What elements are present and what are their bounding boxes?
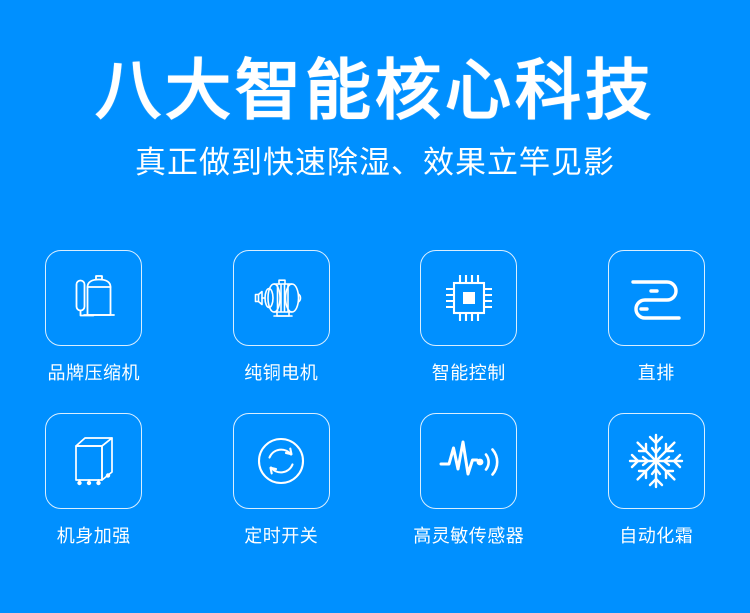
feature-item-motor[interactable]: 纯铜电机	[188, 243, 376, 406]
snowflake-icon	[626, 431, 686, 491]
feature-label: 纯铜电机	[244, 362, 318, 384]
feature-label: 高灵敏传感器	[413, 525, 524, 547]
feature-item-sensor[interactable]: 高灵敏传感器	[375, 406, 563, 569]
pulse-sensor-icon	[437, 436, 501, 486]
feature-tile	[608, 250, 705, 346]
feature-grid: 品牌压缩机	[0, 243, 750, 569]
feature-item-compressor[interactable]: 品牌压缩机	[0, 243, 188, 406]
feature-label: 品牌压缩机	[48, 362, 141, 384]
cpu-chip-icon	[440, 269, 498, 327]
promo-banner: 八大智能核心科技 真正做到快速除湿、效果立竿见影	[0, 0, 750, 613]
page-title: 八大智能核心科技	[0, 52, 750, 128]
feature-item-auto-defrost[interactable]: 自动化霜	[563, 406, 750, 569]
feature-tile	[420, 250, 517, 346]
electric-motor-icon	[250, 267, 312, 329]
drain-hose-icon	[625, 271, 687, 325]
feature-label: 定时开关	[244, 525, 318, 547]
feature-item-smart-control[interactable]: 智能控制	[375, 243, 563, 406]
feature-label: 直排	[638, 362, 675, 384]
feature-tile	[45, 413, 142, 509]
feature-item-timer[interactable]: 定时开关	[188, 406, 376, 569]
refresh-cycle-icon	[252, 432, 310, 490]
feature-item-direct-drain[interactable]: 直排	[563, 243, 750, 406]
feature-tile	[233, 413, 330, 509]
feature-tile	[45, 250, 142, 346]
feature-label: 机身加强	[57, 525, 131, 547]
feature-tile	[233, 250, 330, 346]
header-block: 八大智能核心科技 真正做到快速除湿、效果立竿见影	[0, 0, 750, 183]
feature-tile	[608, 413, 705, 509]
compressor-icon	[63, 267, 125, 329]
feature-label: 智能控制	[432, 362, 506, 384]
feature-item-body[interactable]: 机身加强	[0, 406, 188, 569]
page-subtitle: 真正做到快速除湿、效果立竿见影	[0, 128, 750, 183]
cabinet-body-icon	[64, 430, 124, 492]
feature-label: 自动化霜	[619, 525, 693, 547]
feature-tile	[420, 413, 517, 509]
